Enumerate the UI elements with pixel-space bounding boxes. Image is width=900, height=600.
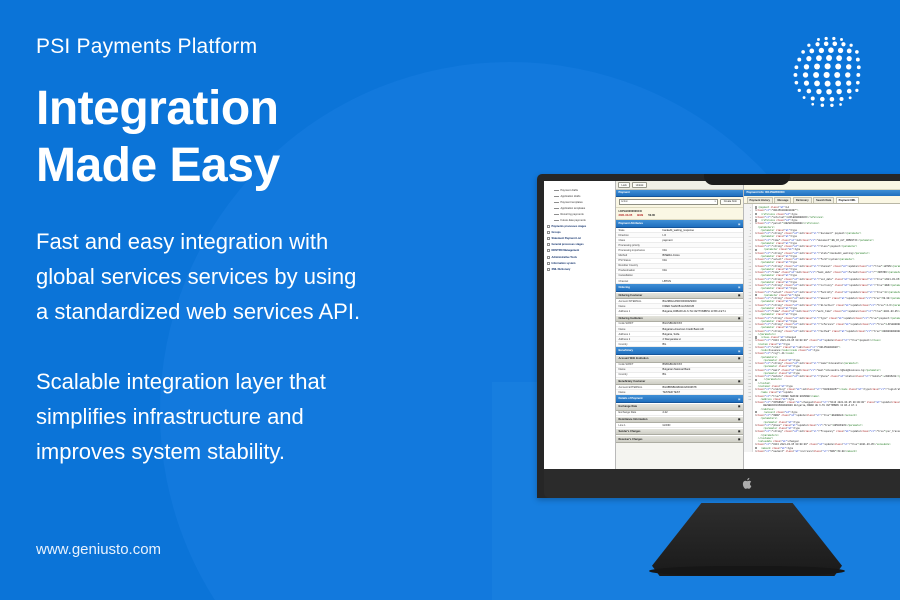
field-key: Processing importance: [619, 249, 663, 252]
field-key: Code SWIFT: [619, 363, 663, 366]
apple-logo: [742, 477, 753, 490]
expand-plus-icon[interactable]: [547, 256, 550, 259]
field-value: Bulgaria, Sofia: [663, 333, 741, 336]
body-paragraph-1: Fast and easy integration with global se…: [36, 224, 360, 329]
field-key: Method: [619, 254, 663, 257]
field-value: 2 Slavyanska st: [663, 338, 741, 341]
remittance-information-header: Remittance Information ▣: [616, 416, 743, 423]
tree-dash-icon: [554, 202, 559, 203]
sidebar-item-label: Application templates: [561, 207, 586, 210]
eyebrow-text: PSI Payments Platform: [36, 35, 257, 59]
ordering-customer-title: Ordering Customer: [619, 294, 643, 297]
field-key: Address 1: [619, 333, 663, 336]
field-key: Exchange Rate: [619, 411, 663, 414]
payment-amount: 50.00: [648, 214, 655, 217]
sidebar-item-label: Application drafts: [561, 195, 581, 198]
xml-tabs[interactable]: Payment History Message Dictionary Searc…: [744, 196, 900, 205]
collapse-icon[interactable]: ▣: [738, 357, 740, 360]
paragraph-1-line-2: global services services by using: [36, 259, 360, 294]
exchange-rate-title: Exchange Rate: [619, 405, 638, 408]
monitor-stand-foot: [649, 566, 845, 576]
payment-form-column: Lock Unlock Payment Action ▾ Create from: [616, 181, 744, 469]
field-value: LBTUN: [663, 280, 741, 283]
page-title: Integration Made Easy: [36, 80, 280, 194]
lock-button[interactable]: Lock: [618, 182, 630, 188]
beneficiary-customer-title: Beneficiary Customer: [619, 380, 646, 383]
beneficiary-header: Beneficiary ▣: [616, 347, 743, 355]
collapse-icon[interactable]: ▣: [738, 317, 740, 320]
field-value: payment: [663, 239, 741, 242]
payment-currency: BGN: [637, 214, 643, 217]
details-of-payment-header: Details of Payment ▣: [616, 395, 743, 403]
field-key: Country: [619, 373, 663, 376]
field-value: Bulgaria,CDBAR HG 6-TH CETTOMBPH 13 BX.A…: [663, 310, 741, 313]
payment-reference-row: LKPLE0000000CO 2021-03-05 BGN 50.00: [616, 208, 743, 221]
details-of-payment-title: Details of Payment: [619, 397, 643, 400]
payment-attributes-title: Payment Attributes: [619, 222, 644, 225]
headline-line-2: Made Easy: [36, 137, 280, 194]
ordering-header: Ordering ▣: [616, 284, 743, 292]
action-select-value: Action: [621, 200, 628, 203]
exchange-rate-header: Exchange Rate ▣: [616, 403, 743, 410]
field-key: Account EXTERNAL: [619, 386, 663, 389]
expand-plus-icon[interactable]: [547, 225, 550, 228]
payment-reference-id: LKPLE0000000CO: [619, 210, 741, 213]
sidebar-item-label: Information system: [552, 262, 576, 265]
field-key: Cancellation: [619, 274, 663, 277]
sidebar-item-label: Future date payments: [561, 219, 586, 222]
expand-plus-icon[interactable]: [547, 243, 550, 246]
tree-dash-icon: [554, 214, 559, 215]
monitor-screen: Payment drafts Application drafts Paymen…: [544, 181, 900, 469]
sidebar-item-label: Payment templates: [561, 201, 583, 204]
collapse-icon[interactable]: ▣: [738, 405, 740, 408]
dotted-globe-logo: [782, 26, 878, 122]
collapse-icon[interactable]: ▣: [738, 397, 741, 401]
monitor-bezel: Payment drafts Application drafts Paymen…: [537, 174, 900, 498]
ordering-institution-title: Ordering Institution: [619, 317, 643, 320]
tree-dash-icon: [554, 208, 559, 209]
body-paragraph-2: Scalable integration layer that simplifi…: [36, 364, 326, 469]
banner-canvas: PSI Payments Platform Integration Made E…: [0, 0, 900, 600]
payment-attributes-header: Payment Attributes ▣: [616, 220, 743, 228]
field-value: FIRED SHAKIB HASSOUB: [663, 305, 741, 308]
collapse-icon[interactable]: ▣: [738, 380, 740, 383]
monitor-notch: [704, 174, 790, 185]
field-value: BG: [663, 373, 741, 376]
field-key: Address 1: [619, 310, 663, 313]
sidebar-item-label: Administrative Tools: [552, 256, 577, 259]
beneficiary-customer-header: Beneficiary Customer ▣: [616, 378, 743, 385]
field-value: GOOD: [663, 424, 741, 427]
sidebar-item-xml-dictionary[interactable]: XML Dictionary: [547, 266, 613, 272]
tab-search-data[interactable]: Search Data: [813, 197, 834, 203]
collapse-icon[interactable]: ▣: [738, 285, 741, 289]
sidebar-item-label: Statement Payment List: [552, 237, 581, 240]
website-url[interactable]: www.geniusto.com: [36, 541, 161, 558]
tab-payment-xml[interactable]: Payment XML: [836, 197, 859, 203]
payment-xml-column: Page: 1 Records: 300 Payment Info: 00145…: [744, 181, 900, 469]
field-value: I-O: [663, 234, 741, 237]
field-value: N/A: [663, 269, 741, 272]
field-key: Remitter Country: [619, 264, 663, 267]
field-value: Bulgarian National Bank: [663, 368, 741, 371]
sidebar-item-label: Recurring payments: [561, 213, 584, 216]
field-key: Name: [619, 305, 663, 308]
field-value: [663, 264, 741, 267]
field-key: PSI Status: [619, 259, 663, 262]
unlock-button[interactable]: Unlock: [632, 182, 647, 188]
field-key: Address 2: [619, 338, 663, 341]
account-with-institution-header: Account With Institution ▣: [616, 355, 743, 362]
beneficiary-title: Beneficiary: [619, 349, 634, 352]
chevron-down-icon: ▾: [715, 200, 716, 203]
field-value: N/A: [663, 259, 741, 262]
field-value: 2.22: [663, 411, 741, 414]
receivers-charges-header[interactable]: Receiver's Charges ▣: [616, 435, 743, 442]
collapse-icon[interactable]: ▣: [738, 222, 741, 226]
expand-plus-icon[interactable]: [547, 231, 550, 234]
ordering-customer-header: Ordering Customer ▣: [616, 292, 743, 299]
field-key: Processing priority: [619, 244, 663, 247]
field-key: Account INTERNAL: [619, 300, 663, 303]
expand-plus-icon[interactable]: [547, 262, 550, 265]
field-key: Name: [619, 328, 663, 331]
field-key: Channel: [619, 280, 663, 283]
field-value: TESTER TEST: [663, 391, 741, 394]
field-value: [663, 274, 741, 277]
sidebar-item-label: Payment drafts: [561, 189, 578, 192]
action-select[interactable]: Action ▾: [619, 199, 719, 205]
xml-code-content[interactable]: <payment class="at">id=class="vl">"00145…: [753, 204, 900, 452]
collapse-icon[interactable]: ▣: [738, 294, 740, 297]
paragraph-1-line-3: a standardized web services API.: [36, 294, 360, 329]
field-key: Class: [619, 239, 663, 242]
payment-panel-title: Payment: [619, 191, 630, 194]
create-from-button[interactable]: Create from: [720, 199, 740, 205]
collapse-icon[interactable]: ▣: [738, 438, 740, 441]
receivers-charges-title: Receiver's Charges: [619, 438, 643, 441]
field-value: BGUSBGSFXXX: [663, 322, 741, 325]
ordering-title: Ordering: [619, 286, 630, 289]
field-value: BG29BACA50150000029000: [663, 300, 741, 303]
tree-dash-icon: [554, 220, 559, 221]
sidebar-item-label: XML Dictionary: [552, 268, 571, 271]
xml-code-viewer[interactable]: 1234567891011121314151617181920212223242…: [744, 204, 900, 452]
collapse-icon[interactable]: ▣: [738, 349, 741, 353]
senders-charges-title: Sender's Charges: [619, 430, 641, 433]
field-key: Predestination: [619, 269, 663, 272]
field-value: BISERA-Cross: [663, 254, 741, 257]
field-value: Bulgarian-American Credit Bank AD: [663, 328, 741, 331]
field-key: Name: [619, 368, 663, 371]
paragraph-2-line-3: improves system stability.: [36, 434, 326, 469]
field-value: BNBGBGSFXXX: [663, 363, 741, 366]
tree-dash-icon: [554, 196, 559, 197]
tab-dictionary[interactable]: Dictionary: [793, 197, 812, 203]
tab-message[interactable]: Message: [774, 197, 791, 203]
field-key: Line 1: [619, 424, 663, 427]
field-key: Direction: [619, 234, 663, 237]
collapse-icon[interactable]: ▣: [738, 430, 740, 433]
field-key: Code SWIFT: [619, 322, 663, 325]
expand-plus-icon[interactable]: [547, 249, 550, 252]
senders-charges-header[interactable]: Sender's Charges ▣: [616, 428, 743, 435]
account-with-institution-title: Account With Institution: [619, 357, 649, 360]
field-value: [663, 244, 741, 247]
paragraph-1-line-1: Fast and easy integration with: [36, 224, 360, 259]
monitor-mockup: Payment drafts Application drafts Paymen…: [537, 174, 900, 498]
field-value: BG: [663, 343, 741, 346]
field-key: State: [619, 229, 663, 232]
ordering-institution-header: Ordering Institution ▣: [616, 315, 743, 322]
field-value: BG08BNBG96611020043678: [663, 386, 741, 389]
payment-panel-header: Payment: [616, 190, 743, 197]
sidebar-item-label: General processes stages: [552, 243, 584, 246]
line-number-gutter: 1234567891011121314151617181920212223242…: [744, 204, 753, 452]
field-value: N/A: [663, 249, 741, 252]
expand-plus-icon[interactable]: [547, 237, 550, 240]
payment-amount-row: 2021-03-05 BGN 50.00: [619, 214, 741, 217]
monitor-chin: [544, 469, 900, 498]
field-key: Country: [619, 343, 663, 346]
remittance-information-title: Remittance Information: [619, 418, 648, 421]
sidebar-item-label: Payments processes stages: [552, 225, 587, 228]
field-key: Name: [619, 391, 663, 394]
paragraph-2-line-2: simplifies infrastructure and: [36, 399, 326, 434]
action-row: Action ▾ Create from: [616, 197, 743, 208]
tab-payment-history[interactable]: Payment History: [747, 197, 773, 203]
paragraph-2-line-1: Scalable integration layer that: [36, 364, 326, 399]
sidebar-item-label: Groups: [552, 231, 561, 234]
headline-line-1: Integration: [36, 80, 280, 137]
expand-plus-icon[interactable]: [547, 268, 550, 271]
payments-application: Payment drafts Application drafts Paymen…: [544, 181, 900, 469]
field-value: bankedit_waiting_response: [663, 229, 741, 232]
sidebar-item-label: NOSTRO Management: [552, 249, 580, 252]
payment-value-date: 2021-03-05: [619, 214, 633, 217]
collapse-icon[interactable]: ▣: [738, 418, 740, 421]
tree-dash-icon: [554, 190, 559, 191]
sidebar-nav-tree[interactable]: Payment drafts Application drafts Paymen…: [544, 181, 616, 469]
